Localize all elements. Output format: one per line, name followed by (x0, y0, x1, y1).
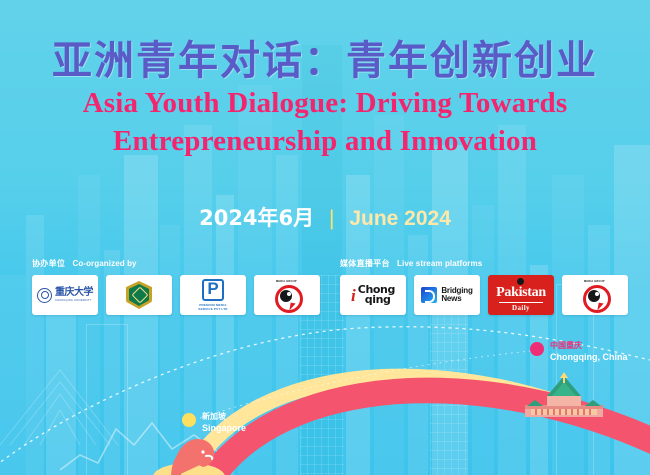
ichongqing-lockup: i Chong qing (351, 285, 395, 305)
bridging-news-lockup: Bridging News (421, 287, 472, 304)
premium-media-line1: PREMIUM MEDIA (198, 303, 227, 307)
bridging-news-mark-icon (421, 287, 437, 303)
logo-text-cn: 重庆大学 (55, 288, 93, 298)
logo-bridging-news[interactable]: Bridging News (414, 275, 480, 315)
logo-ichongqing[interactable]: i Chong qing (340, 275, 406, 315)
pakistan-daily-subtitle: Daily (512, 304, 530, 312)
cqu-lockup: 重庆大学 CHONGQING UNIVERSITY (37, 288, 93, 303)
letter-p-icon: P (202, 279, 223, 300)
university-seal-icon (37, 288, 52, 303)
co-organizers-heading: 协办单位 Co-organized by (32, 258, 320, 269)
map-marker-labels: 中国重庆 Chongqing, China (550, 340, 627, 362)
speech-bubble-icon: MEDIA GROUP (273, 280, 301, 310)
speech-bubble-icon: MEDIA GROUP (581, 280, 609, 310)
logo-text-en: CHONGQING UNIVERSITY (55, 299, 93, 302)
event-date-english: June 2024 (349, 207, 451, 230)
premium-media-text: PREMIUM MEDIA SERVICE PVT LTD (198, 303, 227, 311)
live-stream-heading: 媒体直播平台 Live stream platforms (340, 258, 628, 269)
page-title-english-line2: Entrepreneurship and Innovation (0, 122, 650, 160)
logo-pakistan-daily[interactable]: Pakistan Daily (488, 275, 554, 315)
date-separator: | (329, 207, 334, 230)
marker-label-en: Chongqing, China (550, 352, 627, 362)
bridging-news-line2: News (441, 295, 472, 303)
bubble-caption: MEDIA GROUP (276, 280, 297, 283)
logo-shield-emblem[interactable] (106, 275, 172, 315)
marker-label-en: Singapore (202, 423, 246, 433)
pakistan-daily-title: Pakistan (496, 286, 546, 300)
live-stream-logo-list: i Chong qing Bridging News (340, 275, 628, 315)
pakistan-daily-badge-icon (517, 278, 524, 285)
divider (499, 302, 543, 303)
live-stream-section: 媒体直播平台 Live stream platforms i Chong qin… (340, 258, 628, 315)
live-stream-label-cn: 媒体直播平台 (340, 259, 390, 268)
ichongqing-line2: qing (365, 295, 395, 305)
co-organizer-logo-list: 重庆大学 CHONGQING UNIVERSITY P PREMIUM MEDI… (32, 275, 320, 315)
page-title-english-line1: Asia Youth Dialogue: Driving Towards (0, 84, 650, 122)
pakistan-daily-lockup: Pakistan Daily (496, 278, 546, 312)
map-marker-labels: 新加坡 Singapore (202, 411, 246, 433)
merlion-landmark-illustration (152, 430, 226, 475)
co-organizers-section: 协办单位 Co-organized by 重庆大学 CHONGQING UNIV… (32, 258, 320, 315)
logo-speech-bubble-media-1[interactable]: MEDIA GROUP (254, 275, 320, 315)
chongqing-landmark-illustration (521, 372, 607, 420)
event-date: 2024年6月 | June 2024 (0, 202, 650, 232)
premium-media-line2: SERVICE PVT LTD (198, 307, 227, 311)
logo-chongqing-university[interactable]: 重庆大学 CHONGQING UNIVERSITY (32, 275, 98, 315)
marker-label-cn: 中国重庆 (550, 340, 627, 351)
shield-icon (126, 281, 152, 309)
co-organizers-label-cn: 协办单位 (32, 259, 65, 268)
bridging-news-text: Bridging News (441, 287, 472, 304)
bubble-caption: MEDIA GROUP (584, 280, 605, 283)
page-title-chinese: 亚洲青年对话：青年创新创业 (0, 28, 650, 86)
ichongqing-text: Chong qing (358, 285, 395, 305)
marker-label-cn: 新加坡 (202, 411, 246, 422)
page-title-english: Asia Youth Dialogue: Driving Towards Ent… (0, 84, 650, 161)
event-date-chinese: 2024年6月 (199, 206, 314, 230)
map-pin-icon (530, 342, 544, 356)
poster-canvas: 亚洲青年对话：青年创新创业 Asia Youth Dialogue: Drivi… (0, 0, 650, 475)
live-stream-label-en: Live stream platforms (397, 259, 482, 268)
co-organizers-label-en: Co-organized by (72, 259, 136, 268)
premium-media-lockup: P PREMIUM MEDIA SERVICE PVT LTD (198, 279, 227, 310)
logo-premium-media[interactable]: P PREMIUM MEDIA SERVICE PVT LTD (180, 275, 246, 315)
letter-i-icon: i (351, 287, 356, 304)
map-pin-icon (182, 413, 196, 427)
logo-speech-bubble-media-2[interactable]: MEDIA GROUP (562, 275, 628, 315)
